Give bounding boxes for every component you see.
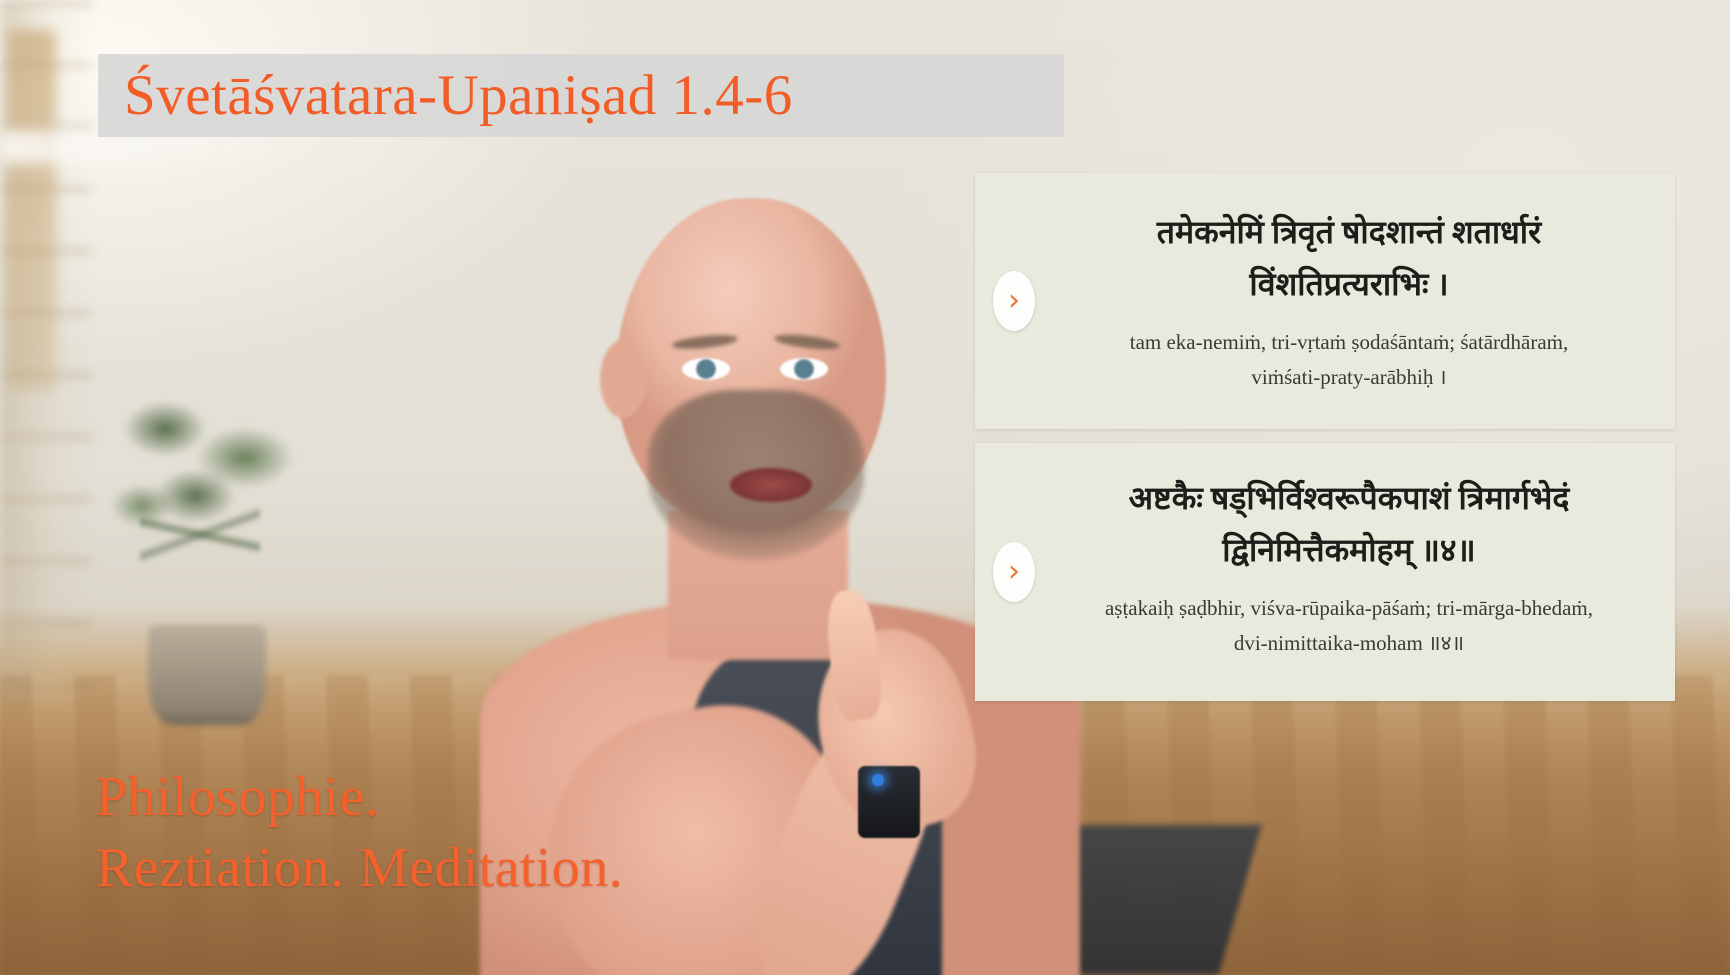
lavalier-microphone — [858, 766, 920, 838]
verse-transliteration-2: aṣṭakaiḥ ṣaḍbhir, viśva-rūpaika-pāśaṁ; t… — [1075, 591, 1623, 662]
plant-stems — [140, 430, 260, 630]
devanagari-line: अष्टकैः षड्भिर्विश्वरूपैकपाशं त्रिमार्गभ… — [1075, 473, 1623, 525]
verse-card-1[interactable]: › तमेकनेमिं त्रिवृतं षोदशान्तं शतार्धारं… — [975, 173, 1675, 429]
chevron-right-icon[interactable]: › — [993, 271, 1035, 331]
transliteration-line: tam eka-nemiṁ, tri-vṛtaṁ ṣodaśāntaṁ; śat… — [1075, 325, 1623, 360]
transliteration-line: viṁśati-praty-arābhiḥ । — [1075, 360, 1623, 395]
tagline-line-1: Philosophie. — [96, 762, 623, 833]
slide-title-band: Śvetāśvatara-Upaniṣad 1.4-6 — [98, 54, 1064, 137]
tagline-line-2: Reztiation. Meditation. — [96, 833, 623, 904]
window-blind — [8, 30, 56, 390]
page-title: Śvetāśvatara-Upaniṣad 1.4-6 — [98, 67, 793, 124]
person-eye-right — [780, 358, 828, 380]
devanagari-line: तमेकनेमिं त्रिवृतं षोदशान्तं शतार्धारं — [1075, 207, 1623, 259]
person-mouth — [730, 468, 812, 502]
verse-panel: › तमेकनेमिं त्रिवृतं षोदशान्तं शतार्धारं… — [975, 173, 1675, 701]
transliteration-line: dvi-nimittaika-moham ॥४॥ — [1075, 626, 1623, 661]
microphone-led-icon — [872, 774, 884, 786]
plant-pot — [148, 625, 266, 725]
video-frame: Śvetāśvatara-Upaniṣad 1.4-6 Philosophie.… — [0, 0, 1730, 975]
person-eye-left — [682, 358, 730, 380]
verse-transliteration-1: tam eka-nemiṁ, tri-vṛtaṁ ṣodaśāntaṁ; śat… — [1075, 325, 1623, 396]
chevron-right-icon[interactable]: › — [993, 542, 1035, 602]
devanagari-line: विंशतिप्रत्यराभिः । — [1075, 259, 1623, 311]
tagline: Philosophie. Reztiation. Meditation. — [96, 762, 623, 904]
verse-devanagari-2: अष्टकैः षड्भिर्विश्वरूपैकपाशं त्रिमार्गभ… — [1075, 473, 1623, 577]
person-ear — [600, 340, 646, 418]
verse-devanagari-1: तमेकनेमिं त्रिवृतं षोदशान्तं शतार्धारं व… — [1075, 207, 1623, 311]
transliteration-line: aṣṭakaiḥ ṣaḍbhir, viśva-rūpaika-pāśaṁ; t… — [1075, 591, 1623, 626]
verse-card-2[interactable]: › अष्टकैः षड्भिर्विश्वरूपैकपाशं त्रिमार्… — [975, 443, 1675, 701]
devanagari-line: द्विनिमित्तैकमोहम् ॥४॥ — [1075, 525, 1623, 577]
